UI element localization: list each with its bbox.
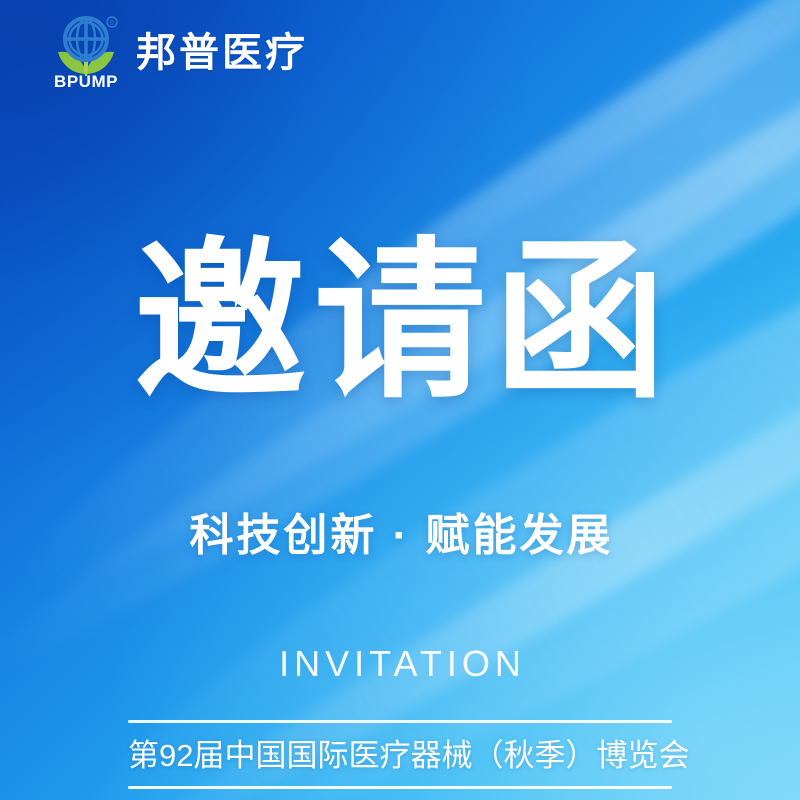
logo-wordmark: BPUMP — [52, 73, 120, 90]
page-title: 邀请函 — [0, 236, 800, 408]
invitation-poster: R BPUMP 邦普医疗 邀请函 科技创新 · 赋能发展 INVITATION … — [0, 0, 800, 800]
poster-subtitle: 科技创新 · 赋能发展 — [0, 512, 800, 560]
brand-lockup: R BPUMP 邦普医疗 — [52, 12, 308, 92]
event-name: 第92届中国国际医疗器械（秋季）博览会 — [128, 723, 672, 786]
svg-text:R: R — [110, 19, 115, 27]
bpump-logo: R BPUMP — [52, 12, 120, 92]
invitation-english-label: INVITATION — [0, 646, 800, 682]
footer-event-block: 第92届中国国际医疗器械（秋季）博览会 — [128, 720, 672, 789]
divider-bottom — [128, 786, 672, 789]
company-name: 邦普医疗 — [136, 33, 308, 73]
